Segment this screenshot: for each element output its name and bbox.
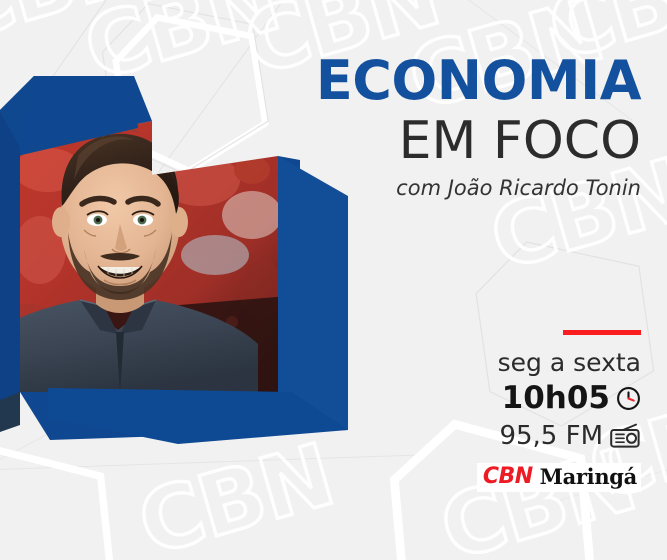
schedule-days: seg a sexta: [461, 349, 641, 377]
blue-sliver-left: [0, 112, 20, 410]
program-title-line1: ECONOMIA: [311, 52, 641, 110]
promo-card: CBN: [0, 0, 667, 560]
schedule-time: 10h05: [502, 381, 610, 415]
schedule-frequency: 95,5 FM: [499, 421, 603, 451]
station-logo: CBN Maringá: [477, 463, 641, 492]
radio-icon: [609, 423, 641, 449]
clock-icon: [616, 386, 641, 411]
schedule-frequency-row: 95,5 FM: [461, 421, 641, 451]
program-title-line2: EM FOCO: [311, 112, 641, 170]
logo-city-name: Maringá: [540, 465, 637, 489]
logo-network-name: CBN: [483, 465, 533, 489]
red-rule-divider: [563, 330, 641, 335]
title-block: ECONOMIA EM FOCO com João Ricardo Tonin: [311, 52, 641, 202]
schedule-time-row: 10h05: [461, 381, 641, 415]
program-host: com João Ricardo Tonin: [311, 174, 641, 202]
schedule-block: seg a sexta 10h05 95,5 FM CBN Maringá: [461, 330, 641, 492]
